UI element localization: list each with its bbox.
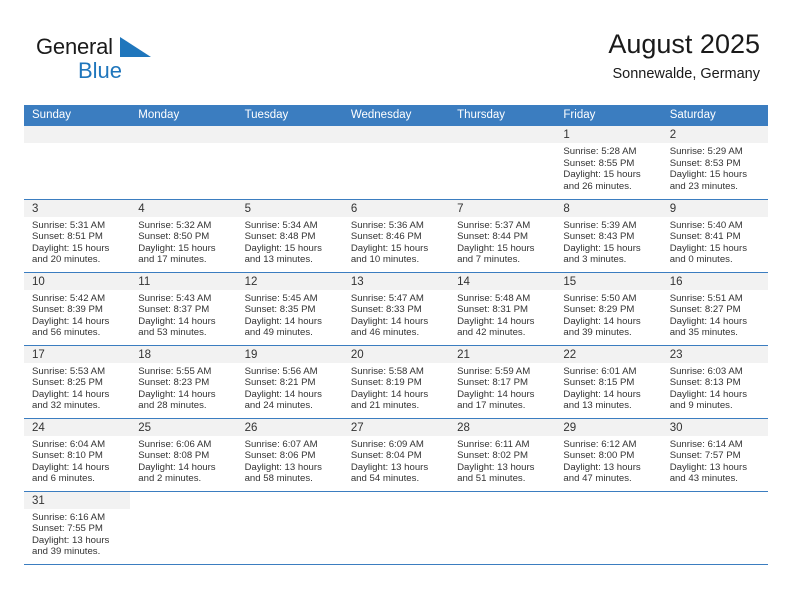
calendar-day-cell[interactable]: 26Sunrise: 6:07 AMSunset: 8:06 PMDayligh… (237, 418, 343, 491)
day-number: 7 (449, 200, 555, 217)
day-details (130, 509, 236, 512)
sunset-time: Sunset: 8:41 PM (670, 231, 764, 243)
calendar-cell-blank (130, 491, 236, 564)
daylight-duration-line1: Daylight: 14 hours (457, 389, 551, 401)
daylight-duration-line2: and 21 minutes. (351, 400, 445, 412)
day-details: Sunrise: 6:14 AMSunset: 7:57 PMDaylight:… (662, 436, 768, 485)
day-details: Sunrise: 6:11 AMSunset: 8:02 PMDaylight:… (449, 436, 555, 485)
calendar-header-row-group: Sunday Monday Tuesday Wednesday Thursday… (24, 105, 768, 126)
day-number: 9 (662, 200, 768, 217)
sunset-time: Sunset: 8:37 PM (138, 304, 232, 316)
day-number: 30 (662, 419, 768, 436)
brand-name-primary: General (36, 36, 236, 59)
day-number: 15 (555, 273, 661, 290)
calendar-page: General Blue August 2025 Sonnewalde, Ger… (0, 0, 792, 612)
sunrise-time: Sunrise: 5:55 AM (138, 366, 232, 378)
day-number-band (237, 492, 343, 509)
day-number: 16 (662, 273, 768, 290)
day-details: Sunrise: 5:45 AMSunset: 8:35 PMDaylight:… (237, 290, 343, 339)
daylight-duration-line2: and 39 minutes. (563, 327, 657, 339)
daylight-duration-line2: and 20 minutes. (32, 254, 126, 266)
day-number: 1 (555, 126, 661, 143)
sunset-time: Sunset: 8:15 PM (563, 377, 657, 389)
sunrise-time: Sunrise: 5:29 AM (670, 146, 764, 158)
daylight-duration-line2: and 46 minutes. (351, 327, 445, 339)
calendar-day-cell[interactable]: 10Sunrise: 5:42 AMSunset: 8:39 PMDayligh… (24, 272, 130, 345)
daylight-duration-line2: and 17 minutes. (138, 254, 232, 266)
sunset-time: Sunset: 8:51 PM (32, 231, 126, 243)
sunrise-time: Sunrise: 5:31 AM (32, 220, 126, 232)
day-number: 4 (130, 200, 236, 217)
calendar-body: 1Sunrise: 5:28 AMSunset: 8:55 PMDaylight… (24, 126, 768, 564)
day-number: 17 (24, 346, 130, 363)
calendar-day-cell[interactable]: 1Sunrise: 5:28 AMSunset: 8:55 PMDaylight… (555, 126, 661, 199)
day-details: Sunrise: 5:53 AMSunset: 8:25 PMDaylight:… (24, 363, 130, 412)
daylight-duration-line1: Daylight: 14 hours (351, 316, 445, 328)
sunset-time: Sunset: 8:44 PM (457, 231, 551, 243)
sunset-time: Sunset: 8:00 PM (563, 450, 657, 462)
day-details: Sunrise: 5:36 AMSunset: 8:46 PMDaylight:… (343, 217, 449, 266)
weekday-header-wednesday: Wednesday (343, 105, 449, 126)
calendar-day-cell[interactable]: 6Sunrise: 5:36 AMSunset: 8:46 PMDaylight… (343, 199, 449, 272)
daylight-duration-line2: and 0 minutes. (670, 254, 764, 266)
day-details: Sunrise: 5:42 AMSunset: 8:39 PMDaylight:… (24, 290, 130, 339)
calendar-cell-empty (237, 126, 343, 199)
sunrise-time: Sunrise: 5:48 AM (457, 293, 551, 305)
weekday-header-row: Sunday Monday Tuesday Wednesday Thursday… (24, 105, 768, 126)
daylight-duration-line1: Daylight: 15 hours (32, 243, 126, 255)
daylight-duration-line2: and 9 minutes. (670, 400, 764, 412)
daylight-duration-line2: and 43 minutes. (670, 473, 764, 485)
daylight-duration-line1: Daylight: 15 hours (563, 169, 657, 181)
calendar-day-cell[interactable]: 30Sunrise: 6:14 AMSunset: 7:57 PMDayligh… (662, 418, 768, 491)
day-number-band (662, 492, 768, 509)
day-details: Sunrise: 6:04 AMSunset: 8:10 PMDaylight:… (24, 436, 130, 485)
daylight-duration-line1: Daylight: 14 hours (670, 316, 764, 328)
calendar-cell-empty (343, 126, 449, 199)
day-details: Sunrise: 6:07 AMSunset: 8:06 PMDaylight:… (237, 436, 343, 485)
daylight-duration-line2: and 13 minutes. (245, 254, 339, 266)
day-details: Sunrise: 6:12 AMSunset: 8:00 PMDaylight:… (555, 436, 661, 485)
day-number-band (130, 126, 236, 143)
sunset-time: Sunset: 8:43 PM (563, 231, 657, 243)
sunset-time: Sunset: 8:21 PM (245, 377, 339, 389)
daylight-duration-line1: Daylight: 14 hours (138, 389, 232, 401)
calendar-cell-empty (449, 126, 555, 199)
calendar-day-cell[interactable]: 20Sunrise: 5:58 AMSunset: 8:19 PMDayligh… (343, 345, 449, 418)
day-details: Sunrise: 5:32 AMSunset: 8:50 PMDaylight:… (130, 217, 236, 266)
sunset-time: Sunset: 8:23 PM (138, 377, 232, 389)
sunrise-time: Sunrise: 6:04 AM (32, 439, 126, 451)
calendar-day-cell[interactable]: 4Sunrise: 5:32 AMSunset: 8:50 PMDaylight… (130, 199, 236, 272)
daylight-duration-line1: Daylight: 14 hours (32, 389, 126, 401)
sunset-time: Sunset: 8:29 PM (563, 304, 657, 316)
day-number: 14 (449, 273, 555, 290)
day-details: Sunrise: 6:06 AMSunset: 8:08 PMDaylight:… (130, 436, 236, 485)
calendar-day-cell[interactable]: 12Sunrise: 5:45 AMSunset: 8:35 PMDayligh… (237, 272, 343, 345)
daylight-duration-line1: Daylight: 14 hours (245, 389, 339, 401)
sunrise-time: Sunrise: 5:47 AM (351, 293, 445, 305)
brand-word-blue: Blue (78, 60, 236, 82)
calendar-week-row: 31Sunrise: 6:16 AMSunset: 7:55 PMDayligh… (24, 491, 768, 564)
day-number: 23 (662, 346, 768, 363)
sunrise-time: Sunrise: 5:40 AM (670, 220, 764, 232)
sunrise-time: Sunrise: 6:07 AM (245, 439, 339, 451)
day-details: Sunrise: 5:48 AMSunset: 8:31 PMDaylight:… (449, 290, 555, 339)
brand-word-general: General (36, 34, 113, 59)
calendar-day-cell[interactable]: 24Sunrise: 6:04 AMSunset: 8:10 PMDayligh… (24, 418, 130, 491)
day-details: Sunrise: 6:16 AMSunset: 7:55 PMDaylight:… (24, 509, 130, 558)
daylight-duration-line2: and 6 minutes. (32, 473, 126, 485)
weekday-header-thursday: Thursday (449, 105, 555, 126)
daylight-duration-line1: Daylight: 15 hours (670, 243, 764, 255)
daylight-duration-line1: Daylight: 13 hours (457, 462, 551, 474)
day-details: Sunrise: 5:56 AMSunset: 8:21 PMDaylight:… (237, 363, 343, 412)
day-details: Sunrise: 6:09 AMSunset: 8:04 PMDaylight:… (343, 436, 449, 485)
day-number: 27 (343, 419, 449, 436)
day-number-band (24, 126, 130, 143)
calendar-week-row: 10Sunrise: 5:42 AMSunset: 8:39 PMDayligh… (24, 272, 768, 345)
calendar-week-row: 24Sunrise: 6:04 AMSunset: 8:10 PMDayligh… (24, 418, 768, 491)
sunset-time: Sunset: 8:50 PM (138, 231, 232, 243)
daylight-duration-line1: Daylight: 15 hours (670, 169, 764, 181)
triangle-flag-icon (120, 37, 151, 57)
day-details: Sunrise: 6:03 AMSunset: 8:13 PMDaylight:… (662, 363, 768, 412)
daylight-duration-line2: and 56 minutes. (32, 327, 126, 339)
day-number: 22 (555, 346, 661, 363)
brand-logo[interactable]: General Blue (36, 36, 236, 92)
daylight-duration-line1: Daylight: 13 hours (670, 462, 764, 474)
sunset-time: Sunset: 8:53 PM (670, 158, 764, 170)
sunrise-time: Sunrise: 6:06 AM (138, 439, 232, 451)
day-details: Sunrise: 5:59 AMSunset: 8:17 PMDaylight:… (449, 363, 555, 412)
sunrise-time: Sunrise: 5:58 AM (351, 366, 445, 378)
weekday-header-monday: Monday (130, 105, 236, 126)
day-number: 3 (24, 200, 130, 217)
day-details: Sunrise: 5:31 AMSunset: 8:51 PMDaylight:… (24, 217, 130, 266)
daylight-duration-line1: Daylight: 13 hours (32, 535, 126, 547)
day-details: Sunrise: 5:29 AMSunset: 8:53 PMDaylight:… (662, 143, 768, 192)
daylight-duration-line1: Daylight: 14 hours (670, 389, 764, 401)
daylight-duration-line1: Daylight: 13 hours (245, 462, 339, 474)
calendar-day-cell[interactable]: 14Sunrise: 5:48 AMSunset: 8:31 PMDayligh… (449, 272, 555, 345)
day-details (449, 509, 555, 512)
sunset-time: Sunset: 8:08 PM (138, 450, 232, 462)
sunset-time: Sunset: 8:17 PM (457, 377, 551, 389)
day-number: 26 (237, 419, 343, 436)
calendar-cell-blank (343, 491, 449, 564)
calendar-cell-empty (24, 126, 130, 199)
calendar-day-cell[interactable]: 22Sunrise: 6:01 AMSunset: 8:15 PMDayligh… (555, 345, 661, 418)
sunset-time: Sunset: 8:02 PM (457, 450, 551, 462)
calendar-day-cell[interactable]: 13Sunrise: 5:47 AMSunset: 8:33 PMDayligh… (343, 272, 449, 345)
day-number: 28 (449, 419, 555, 436)
sunset-time: Sunset: 8:19 PM (351, 377, 445, 389)
page-header: General Blue August 2025 Sonnewalde, Ger… (24, 28, 760, 98)
sunset-time: Sunset: 8:31 PM (457, 304, 551, 316)
daylight-duration-line1: Daylight: 14 hours (245, 316, 339, 328)
day-number: 12 (237, 273, 343, 290)
sunset-time: Sunset: 7:55 PM (32, 523, 126, 535)
sunset-time: Sunset: 8:10 PM (32, 450, 126, 462)
daylight-duration-line2: and 49 minutes. (245, 327, 339, 339)
day-number: 21 (449, 346, 555, 363)
calendar-cell-blank (237, 491, 343, 564)
calendar-day-cell[interactable]: 29Sunrise: 6:12 AMSunset: 8:00 PMDayligh… (555, 418, 661, 491)
calendar-day-cell[interactable]: 8Sunrise: 5:39 AMSunset: 8:43 PMDaylight… (555, 199, 661, 272)
sunrise-time: Sunrise: 5:39 AM (563, 220, 657, 232)
sunset-time: Sunset: 8:46 PM (351, 231, 445, 243)
day-number-band (343, 492, 449, 509)
weekday-header-saturday: Saturday (662, 105, 768, 126)
daylight-duration-line2: and 13 minutes. (563, 400, 657, 412)
day-details: Sunrise: 5:39 AMSunset: 8:43 PMDaylight:… (555, 217, 661, 266)
day-number: 5 (237, 200, 343, 217)
day-number: 24 (24, 419, 130, 436)
daylight-duration-line2: and 17 minutes. (457, 400, 551, 412)
weekday-header-sunday: Sunday (24, 105, 130, 126)
day-details: Sunrise: 5:43 AMSunset: 8:37 PMDaylight:… (130, 290, 236, 339)
daylight-duration-line1: Daylight: 14 hours (563, 389, 657, 401)
day-details: Sunrise: 5:34 AMSunset: 8:48 PMDaylight:… (237, 217, 343, 266)
daylight-duration-line2: and 51 minutes. (457, 473, 551, 485)
calendar-day-cell[interactable]: 17Sunrise: 5:53 AMSunset: 8:25 PMDayligh… (24, 345, 130, 418)
sunrise-time: Sunrise: 5:42 AM (32, 293, 126, 305)
daylight-duration-line2: and 2 minutes. (138, 473, 232, 485)
calendar-day-cell[interactable]: 5Sunrise: 5:34 AMSunset: 8:48 PMDaylight… (237, 199, 343, 272)
day-number-band (130, 492, 236, 509)
day-details (343, 509, 449, 512)
sunrise-time: Sunrise: 6:16 AM (32, 512, 126, 524)
daylight-duration-line1: Daylight: 14 hours (351, 389, 445, 401)
calendar-day-cell[interactable]: 27Sunrise: 6:09 AMSunset: 8:04 PMDayligh… (343, 418, 449, 491)
sunset-time: Sunset: 7:57 PM (670, 450, 764, 462)
day-number: 10 (24, 273, 130, 290)
day-number-band (343, 126, 449, 143)
sunrise-time: Sunrise: 5:28 AM (563, 146, 657, 158)
calendar-day-cell[interactable]: 28Sunrise: 6:11 AMSunset: 8:02 PMDayligh… (449, 418, 555, 491)
daylight-duration-line2: and 26 minutes. (563, 181, 657, 193)
day-details (555, 509, 661, 512)
daylight-duration-line2: and 42 minutes. (457, 327, 551, 339)
sunrise-time: Sunrise: 5:37 AM (457, 220, 551, 232)
calendar-day-cell[interactable]: 9Sunrise: 5:40 AMSunset: 8:41 PMDaylight… (662, 199, 768, 272)
sunset-time: Sunset: 8:04 PM (351, 450, 445, 462)
day-number: 11 (130, 273, 236, 290)
sunrise-time: Sunrise: 6:01 AM (563, 366, 657, 378)
day-details: Sunrise: 5:28 AMSunset: 8:55 PMDaylight:… (555, 143, 661, 192)
day-details: Sunrise: 5:37 AMSunset: 8:44 PMDaylight:… (449, 217, 555, 266)
sunset-time: Sunset: 8:48 PM (245, 231, 339, 243)
calendar-day-cell[interactable]: 18Sunrise: 5:55 AMSunset: 8:23 PMDayligh… (130, 345, 236, 418)
sunset-time: Sunset: 8:39 PM (32, 304, 126, 316)
day-details: Sunrise: 5:55 AMSunset: 8:23 PMDaylight:… (130, 363, 236, 412)
calendar-day-cell[interactable]: 25Sunrise: 6:06 AMSunset: 8:08 PMDayligh… (130, 418, 236, 491)
day-details (662, 509, 768, 512)
calendar-week-row: 17Sunrise: 5:53 AMSunset: 8:25 PMDayligh… (24, 345, 768, 418)
calendar-day-cell[interactable]: 21Sunrise: 5:59 AMSunset: 8:17 PMDayligh… (449, 345, 555, 418)
day-details: Sunrise: 6:01 AMSunset: 8:15 PMDaylight:… (555, 363, 661, 412)
sunrise-time: Sunrise: 5:34 AM (245, 220, 339, 232)
daylight-duration-line1: Daylight: 15 hours (457, 243, 551, 255)
title-block: August 2025 Sonnewalde, Germany (608, 28, 760, 84)
calendar-cell-blank (555, 491, 661, 564)
daylight-duration-line1: Daylight: 14 hours (563, 316, 657, 328)
sunrise-time: Sunrise: 5:59 AM (457, 366, 551, 378)
daylight-duration-line2: and 58 minutes. (245, 473, 339, 485)
sunrise-time: Sunrise: 5:43 AM (138, 293, 232, 305)
sunrise-sunset-calendar-table: Sunday Monday Tuesday Wednesday Thursday… (24, 105, 768, 565)
calendar-day-cell[interactable]: 23Sunrise: 6:03 AMSunset: 8:13 PMDayligh… (662, 345, 768, 418)
daylight-duration-line2: and 3 minutes. (563, 254, 657, 266)
day-details: Sunrise: 5:50 AMSunset: 8:29 PMDaylight:… (555, 290, 661, 339)
sunset-time: Sunset: 8:06 PM (245, 450, 339, 462)
sunrise-time: Sunrise: 6:12 AM (563, 439, 657, 451)
day-number: 20 (343, 346, 449, 363)
day-number: 29 (555, 419, 661, 436)
sunrise-time: Sunrise: 6:11 AM (457, 439, 551, 451)
day-number: 25 (130, 419, 236, 436)
daylight-duration-line1: Daylight: 14 hours (138, 316, 232, 328)
calendar-week-row: 3Sunrise: 5:31 AMSunset: 8:51 PMDaylight… (24, 199, 768, 272)
sunset-time: Sunset: 8:13 PM (670, 377, 764, 389)
daylight-duration-line2: and 24 minutes. (245, 400, 339, 412)
sunrise-time: Sunrise: 5:56 AM (245, 366, 339, 378)
daylight-duration-line2: and 47 minutes. (563, 473, 657, 485)
calendar-day-cell[interactable]: 11Sunrise: 5:43 AMSunset: 8:37 PMDayligh… (130, 272, 236, 345)
daylight-duration-line1: Daylight: 15 hours (563, 243, 657, 255)
day-number: 19 (237, 346, 343, 363)
daylight-duration-line2: and 53 minutes. (138, 327, 232, 339)
daylight-duration-line2: and 39 minutes. (32, 546, 126, 558)
daylight-duration-line2: and 32 minutes. (32, 400, 126, 412)
sunrise-time: Sunrise: 6:14 AM (670, 439, 764, 451)
sunset-time: Sunset: 8:55 PM (563, 158, 657, 170)
sunrise-time: Sunrise: 5:32 AM (138, 220, 232, 232)
sunrise-time: Sunrise: 5:36 AM (351, 220, 445, 232)
calendar-day-cell[interactable]: 16Sunrise: 5:51 AMSunset: 8:27 PMDayligh… (662, 272, 768, 345)
day-number: 6 (343, 200, 449, 217)
calendar-day-cell[interactable]: 31Sunrise: 6:16 AMSunset: 7:55 PMDayligh… (24, 491, 130, 564)
sunrise-time: Sunrise: 5:45 AM (245, 293, 339, 305)
sunrise-time: Sunrise: 6:09 AM (351, 439, 445, 451)
day-number-band (237, 126, 343, 143)
daylight-duration-line1: Daylight: 14 hours (457, 316, 551, 328)
daylight-duration-line1: Daylight: 15 hours (351, 243, 445, 255)
day-details (237, 509, 343, 512)
calendar-week-row: 1Sunrise: 5:28 AMSunset: 8:55 PMDaylight… (24, 126, 768, 199)
day-details: Sunrise: 5:58 AMSunset: 8:19 PMDaylight:… (343, 363, 449, 412)
calendar-cell-empty (130, 126, 236, 199)
weekday-header-tuesday: Tuesday (237, 105, 343, 126)
day-number-band (449, 126, 555, 143)
day-details: Sunrise: 5:47 AMSunset: 8:33 PMDaylight:… (343, 290, 449, 339)
daylight-duration-line1: Daylight: 14 hours (138, 462, 232, 474)
sunset-time: Sunset: 8:33 PM (351, 304, 445, 316)
page-title: August 2025 (608, 28, 760, 60)
sunrise-time: Sunrise: 5:53 AM (32, 366, 126, 378)
calendar-day-cell[interactable]: 3Sunrise: 5:31 AMSunset: 8:51 PMDaylight… (24, 199, 130, 272)
calendar-day-cell[interactable]: 19Sunrise: 5:56 AMSunset: 8:21 PMDayligh… (237, 345, 343, 418)
calendar-day-cell[interactable]: 7Sunrise: 5:37 AMSunset: 8:44 PMDaylight… (449, 199, 555, 272)
daylight-duration-line1: Daylight: 15 hours (245, 243, 339, 255)
calendar-day-cell[interactable]: 15Sunrise: 5:50 AMSunset: 8:29 PMDayligh… (555, 272, 661, 345)
daylight-duration-line2: and 10 minutes. (351, 254, 445, 266)
calendar-cell-blank (662, 491, 768, 564)
day-number-band (449, 492, 555, 509)
sunrise-time: Sunrise: 5:51 AM (670, 293, 764, 305)
daylight-duration-line1: Daylight: 15 hours (138, 243, 232, 255)
daylight-duration-line2: and 54 minutes. (351, 473, 445, 485)
sunset-time: Sunset: 8:27 PM (670, 304, 764, 316)
sunrise-time: Sunrise: 6:03 AM (670, 366, 764, 378)
daylight-duration-line1: Daylight: 14 hours (32, 316, 126, 328)
daylight-duration-line2: and 28 minutes. (138, 400, 232, 412)
day-number: 2 (662, 126, 768, 143)
sunset-time: Sunset: 8:25 PM (32, 377, 126, 389)
calendar-day-cell[interactable]: 2Sunrise: 5:29 AMSunset: 8:53 PMDaylight… (662, 126, 768, 199)
sunrise-time: Sunrise: 5:50 AM (563, 293, 657, 305)
daylight-duration-line2: and 23 minutes. (670, 181, 764, 193)
weekday-header-friday: Friday (555, 105, 661, 126)
daylight-duration-line2: and 35 minutes. (670, 327, 764, 339)
day-details: Sunrise: 5:51 AMSunset: 8:27 PMDaylight:… (662, 290, 768, 339)
page-subtitle: Sonnewalde, Germany (608, 64, 760, 84)
day-number: 31 (24, 492, 130, 509)
calendar-cell-blank (449, 491, 555, 564)
day-number: 13 (343, 273, 449, 290)
day-number: 18 (130, 346, 236, 363)
daylight-duration-line1: Daylight: 13 hours (563, 462, 657, 474)
daylight-duration-line1: Daylight: 14 hours (32, 462, 126, 474)
daylight-duration-line2: and 7 minutes. (457, 254, 551, 266)
sunset-time: Sunset: 8:35 PM (245, 304, 339, 316)
daylight-duration-line1: Daylight: 13 hours (351, 462, 445, 474)
day-details: Sunrise: 5:40 AMSunset: 8:41 PMDaylight:… (662, 217, 768, 266)
day-number: 8 (555, 200, 661, 217)
day-number-band (555, 492, 661, 509)
